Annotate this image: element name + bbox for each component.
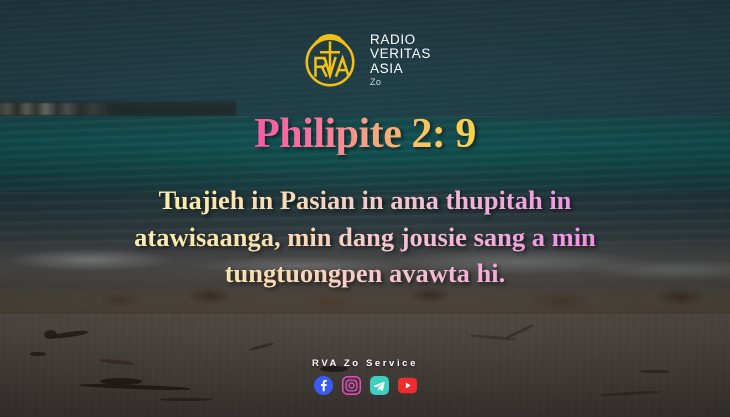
- youtube-icon[interactable]: [398, 376, 417, 395]
- telegram-icon[interactable]: [370, 376, 389, 395]
- slide-canvas: RADIO VERITAS ASIA Zo Philipite 2: 9 Tua…: [0, 0, 730, 417]
- brand-line-radio: RADIO: [370, 33, 431, 48]
- service-name-label: RVA Zo Service: [312, 358, 418, 369]
- social-links-row: [314, 376, 417, 395]
- brand-line-veritas: VERITAS: [370, 47, 431, 62]
- brand-lockup: RADIO VERITAS ASIA Zo: [299, 29, 431, 91]
- brand-line-asia: ASIA: [370, 62, 431, 77]
- brand-line-zo: Zo: [370, 78, 431, 88]
- rva-logo-icon: [299, 29, 361, 91]
- instagram-icon[interactable]: [342, 376, 361, 395]
- verse-text: Tuajieh in Pasian in ama thupitah in ata…: [105, 182, 625, 292]
- verse-reference-title: Philipite 2: 9: [254, 113, 476, 155]
- brand-wordmark: RADIO VERITAS ASIA Zo: [370, 33, 431, 87]
- slide-content: RADIO VERITAS ASIA Zo Philipite 2: 9 Tua…: [0, 0, 730, 417]
- facebook-icon[interactable]: [314, 376, 333, 395]
- footer: RVA Zo Service: [0, 358, 730, 395]
